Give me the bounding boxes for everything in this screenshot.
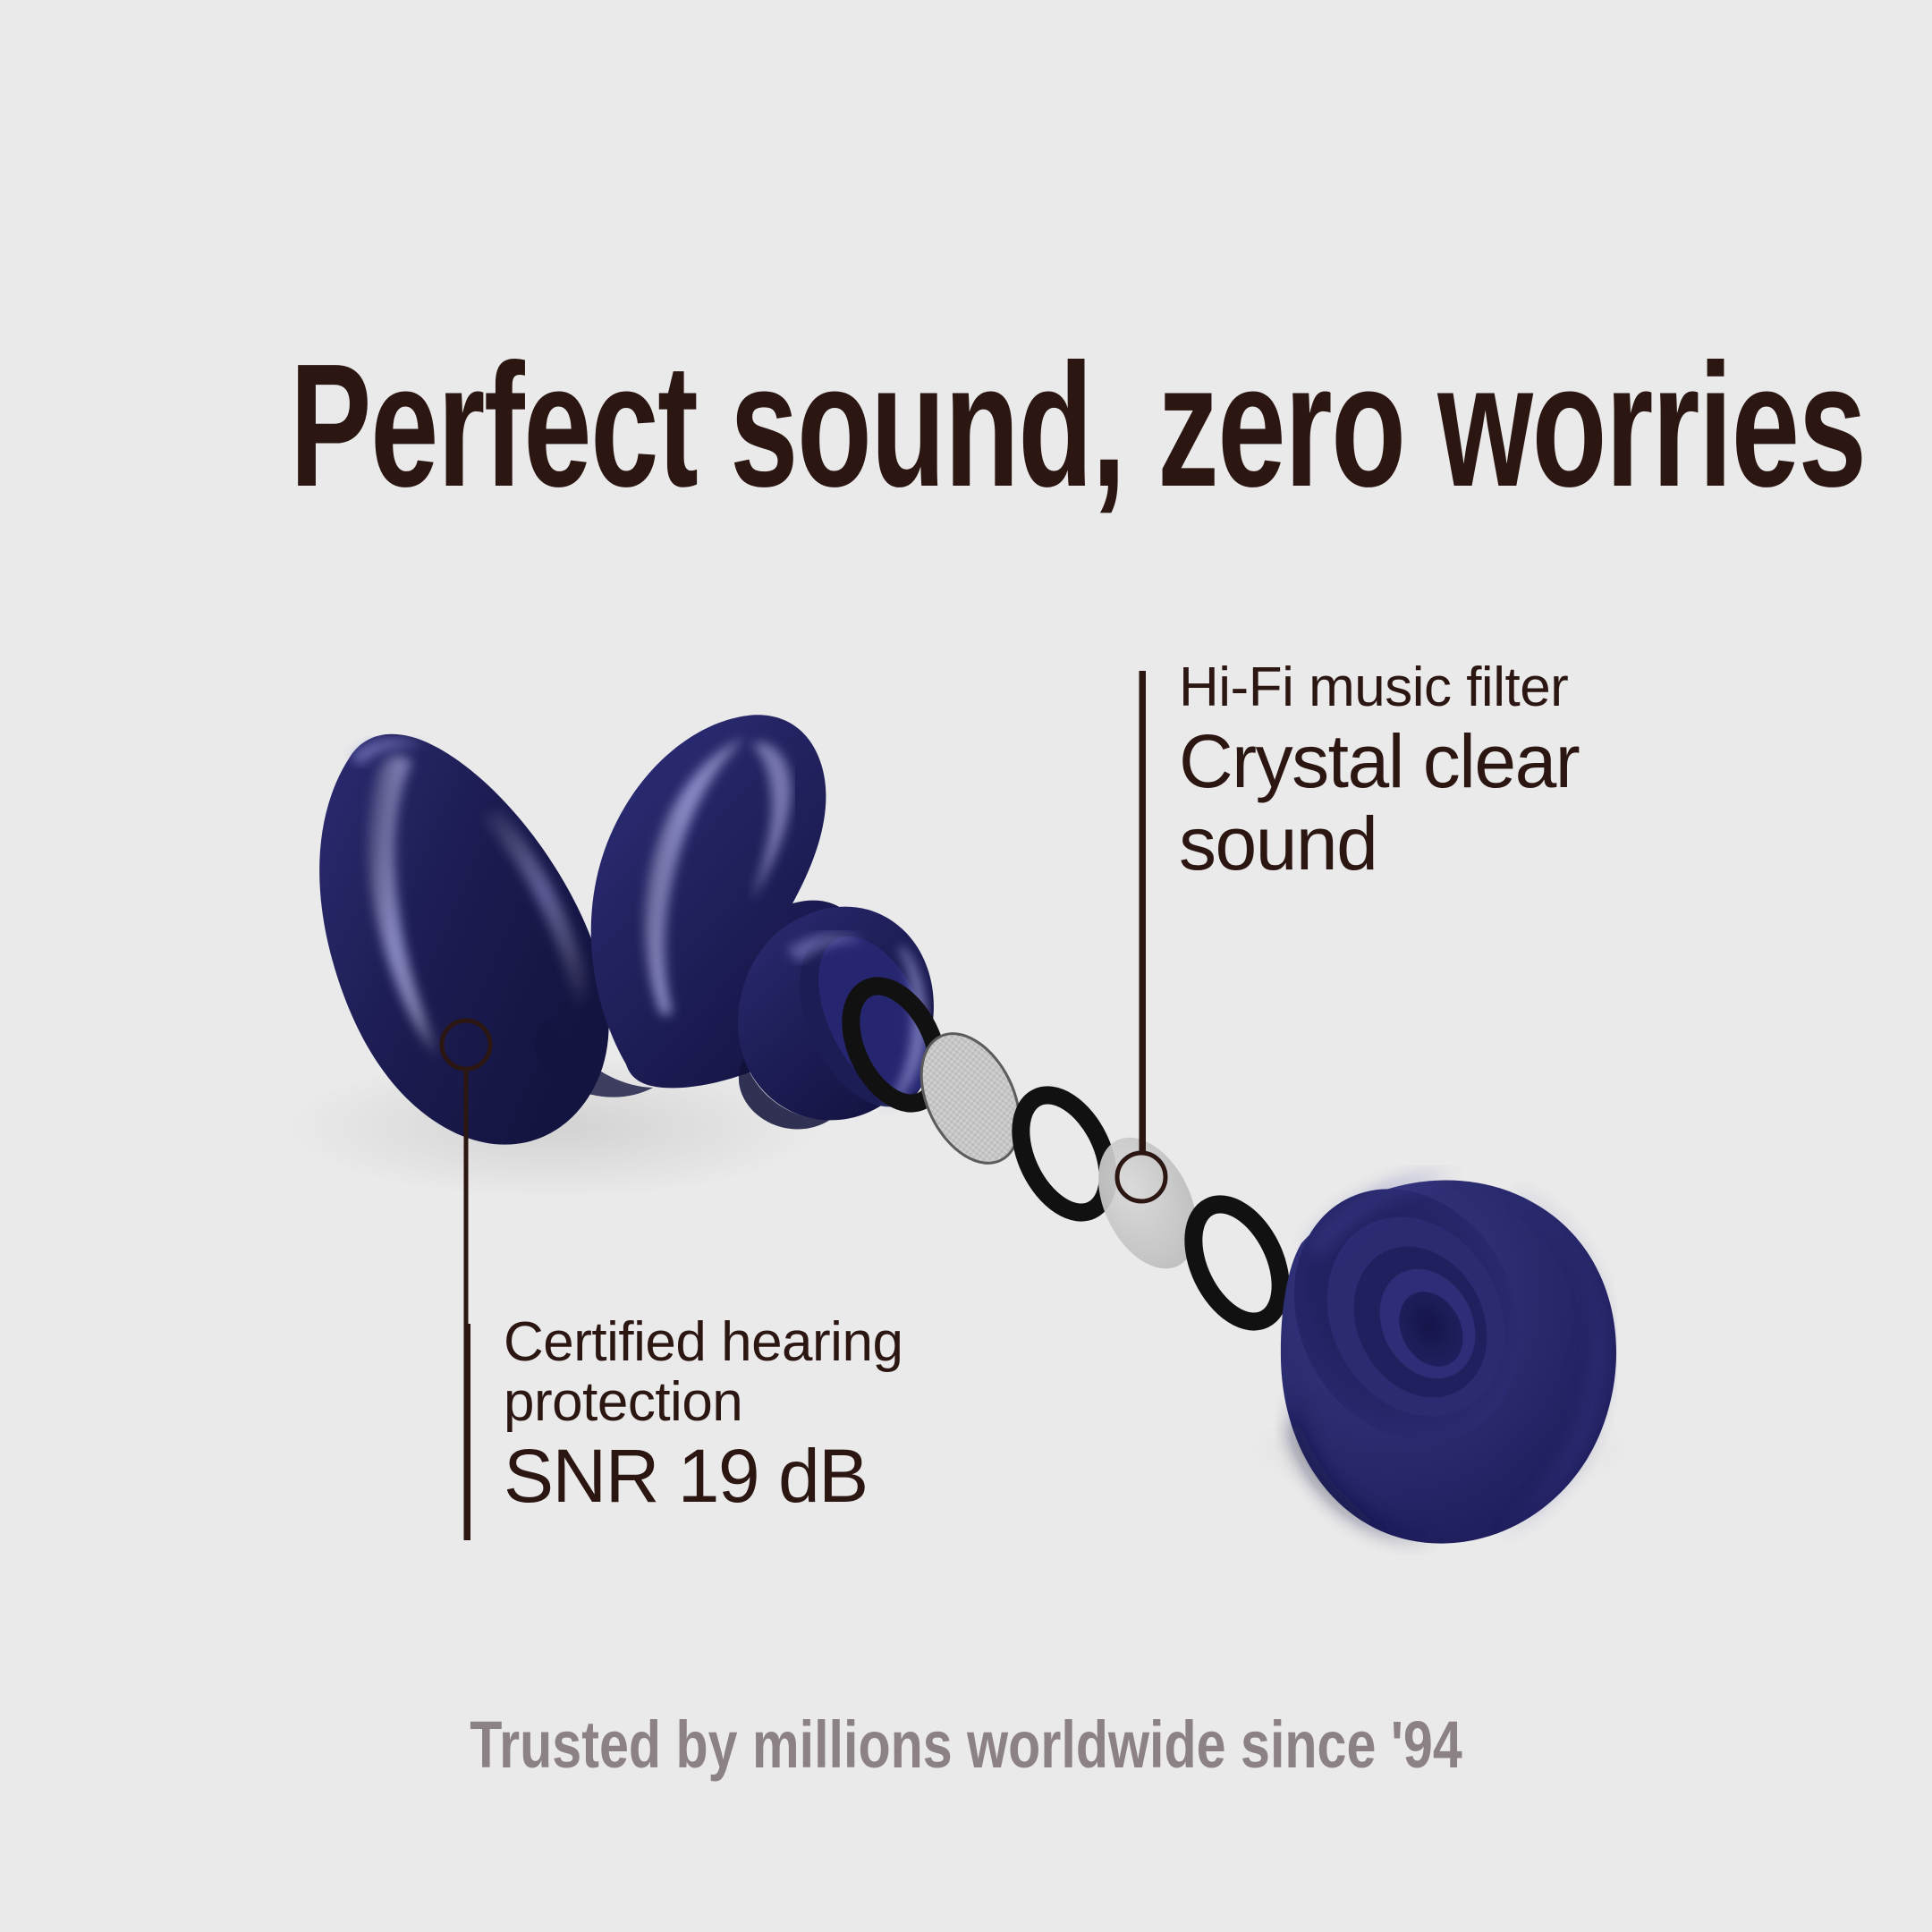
callout-value: SNR 19 dB — [504, 1435, 1004, 1517]
callout-text-block: Hi-Fi music filter Crystal clear sound — [1179, 658, 1716, 885]
product-poster: Perfect sound, zero worries Hi-Fi music … — [0, 0, 1932, 1932]
callout-rule — [466, 1324, 470, 1540]
product-illustration — [0, 0, 1932, 1932]
footer-tagline: Trusted by millions worldwide since '94 — [193, 1707, 1739, 1783]
page-title: Perfect sound, zero worries — [290, 338, 1642, 513]
o-ring-3 — [1176, 1191, 1299, 1336]
callout-text-block: Certified hearing protection SNR 19 dB — [504, 1313, 1004, 1517]
callout-value: Crystal clear sound — [1179, 720, 1716, 885]
callout-rule — [1141, 671, 1146, 1154]
callout-label: Certified hearing protection — [504, 1313, 1004, 1433]
callout-label: Hi-Fi music filter — [1179, 658, 1716, 718]
